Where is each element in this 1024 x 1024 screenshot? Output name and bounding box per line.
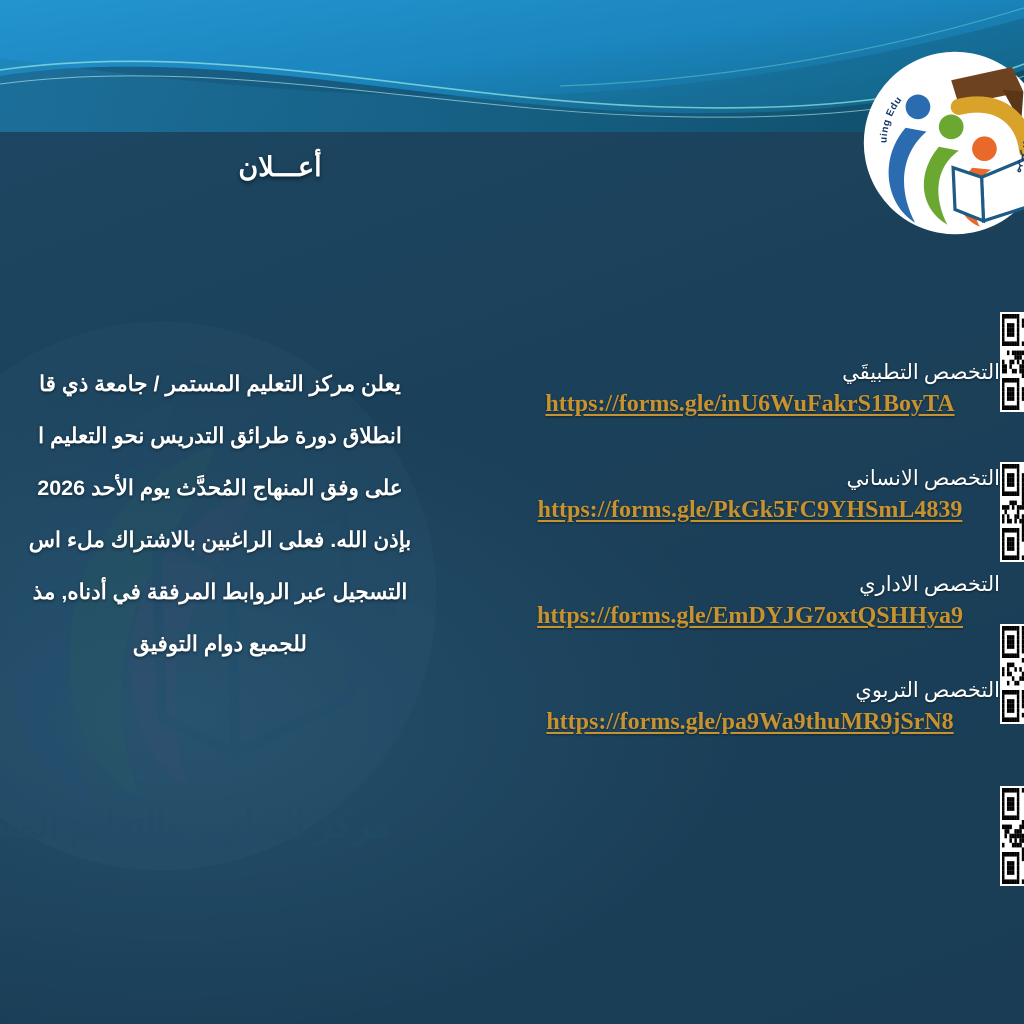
specialization-label-applied: التخصص التطبيقَي	[500, 360, 1000, 385]
specialization-url-educational[interactable]: https://forms.gle/pa9Wa9thuMR9jSrN8	[500, 709, 1000, 736]
announcement-body: يعلن مركز التعليم المستمر / جامعة ذي قا …	[0, 358, 500, 670]
body-line-3: على وفق المنهاج المُحدَّث يوم الأحد 2026	[0, 462, 500, 514]
specialization-label-humanities: التخصص الانساني	[500, 466, 1000, 491]
body-line-5: التسجيل عبر الروابط المرفقة في أدناه, مذ	[0, 566, 500, 618]
specialization-label-educational: التخصص التربوي	[500, 678, 1000, 703]
specialization-url-administrative[interactable]: https://forms.gle/EmDYJG7oxtQSHHya9	[500, 603, 1000, 630]
body-line-6: للجميع دوام التوفيق	[0, 618, 500, 670]
svg-text:مركز التطوير والتعليم المستمر: مركز التطوير والتعليم المستمر	[0, 804, 392, 847]
qr-code-humanities[interactable]	[1000, 462, 1024, 562]
body-line-4: بإذن الله. فعلى الراغبين بالاشتراك ملء ا…	[0, 514, 500, 566]
list-item: التخصص الانساني https://forms.gle/PkGk5F…	[500, 466, 1000, 524]
announcement-poster: مركز التطوير والتعليم المستمر	[0, 0, 1024, 1024]
page-title: أعـــلان	[0, 152, 560, 183]
qr-code-educational[interactable]	[1000, 786, 1024, 886]
specialization-links: التخصص التطبيقَي https://forms.gle/inU6W…	[500, 360, 1000, 736]
specialization-url-humanities[interactable]: https://forms.gle/PkGk5FC9YHSmL4839	[500, 497, 1000, 524]
list-item: التخصص الاداري https://forms.gle/EmDYJG7…	[500, 572, 1000, 630]
list-item: التخصص التطبيقَي https://forms.gle/inU6W…	[500, 360, 1000, 418]
qr-code-applied[interactable]	[1000, 312, 1024, 412]
dcec-logo: DCEC - Development and Continuing Edu مر…	[860, 48, 1024, 238]
subtitle-curved: التسجيل في دورة طرائق التدريس وفق المنهـ	[0, 206, 560, 316]
specialization-label-administrative: التخصص الاداري	[500, 572, 1000, 597]
specialization-url-applied[interactable]: https://forms.gle/inU6WuFakrS1BoyTA	[500, 391, 1000, 418]
body-line-2: انطلاق دورة طرائق التدريس نحو التعليم ا	[0, 410, 500, 462]
body-line-1: يعلن مركز التعليم المستمر / جامعة ذي قا	[0, 358, 500, 410]
qr-code-administrative[interactable]	[1000, 624, 1024, 724]
list-item: التخصص التربوي https://forms.gle/pa9Wa9t…	[500, 678, 1000, 736]
